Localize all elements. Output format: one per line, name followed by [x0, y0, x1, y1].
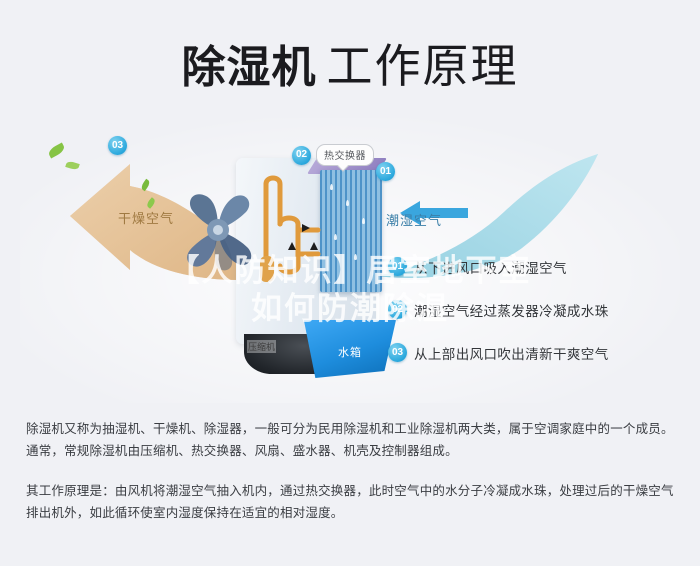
page-title: 除湿机工作原理	[0, 30, 700, 96]
step-badge-03: 03	[388, 343, 407, 362]
dehumidifier-diagram: 压缩机 水箱 03 干燥空气 02 热交换器 01 潮湿空气 01 从下进风口吸…	[0, 118, 700, 408]
step-text-01: 从下进风口吸入潮湿空气	[414, 257, 567, 277]
paragraph-2: 其工作原理是：由风机将潮湿空气抽入机内，通过热交换器，此时空气中的水分子冷凝成水…	[26, 480, 676, 524]
step-item: 02 潮湿空气经过蒸发器冷凝成水珠	[388, 299, 678, 320]
step-text-02: 潮湿空气经过蒸发器冷凝成水珠	[414, 300, 609, 320]
condensation-drop-icon	[334, 234, 337, 240]
page-title-light: 工作原理	[327, 40, 519, 92]
step-list: 01 从下进风口吸入潮湿空气 02 潮湿空气经过蒸发器冷凝成水珠 03 从上部出…	[388, 256, 678, 363]
step-badge-01: 01	[388, 257, 407, 276]
condensation-drop-icon	[330, 184, 333, 190]
callout-humid-air: 01	[376, 162, 395, 181]
condensation-drop-icon	[362, 218, 365, 224]
callout-dry-air: 03	[108, 136, 127, 155]
callout-heat-exchanger: 02 热交换器	[292, 144, 374, 166]
condensation-drop-icon	[346, 200, 349, 206]
refrigerant-pipes-icon	[258, 170, 328, 290]
heat-exchanger-bubble-label: 热交换器	[316, 144, 374, 166]
step-item: 01 从下进风口吸入潮湿空气	[388, 256, 678, 277]
water-tank-label: 水箱	[338, 344, 362, 360]
paragraph-1: 除湿机又称为抽湿机、干燥机、除湿器，一般可分为民用除湿机和工业除湿机两大类，属于…	[26, 418, 676, 462]
label-humid-air: 潮湿空气	[386, 210, 442, 229]
step-item: 03 从上部出风口吹出清新干爽空气	[388, 342, 678, 363]
fan-icon	[172, 184, 264, 276]
badge-01: 01	[376, 162, 395, 181]
badge-02: 02	[292, 146, 311, 165]
step-text-03: 从上部出风口吹出清新干爽空气	[414, 343, 609, 363]
badge-03: 03	[108, 136, 127, 155]
condensation-drop-icon	[354, 254, 357, 260]
page-title-strong: 除湿机	[182, 43, 317, 92]
label-dry-air: 干燥空气	[118, 208, 174, 227]
step-badge-02: 02	[388, 300, 407, 319]
article-body: 除湿机又称为抽湿机、干燥机、除湿器，一般可分为民用除湿机和工业除湿机两大类，属于…	[26, 418, 676, 524]
compressor-label: 压缩机	[247, 340, 276, 353]
water-tank: 水箱	[300, 320, 396, 380]
